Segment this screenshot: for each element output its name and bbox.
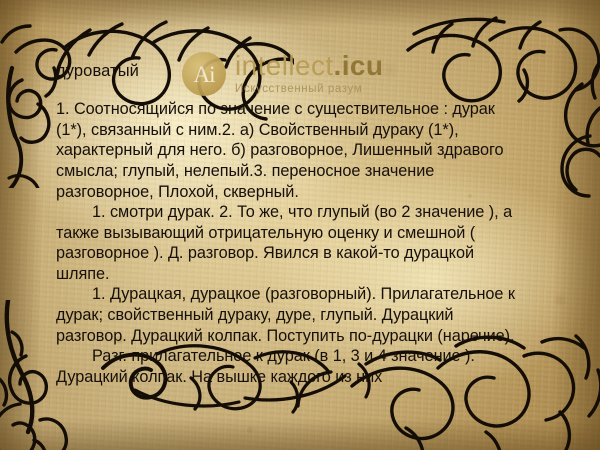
headword: дуроватый xyxy=(56,62,566,80)
definition-paragraph-3: 1. Дурацкая, дурацкое (разговорный). При… xyxy=(56,284,526,346)
definition-paragraph-1: 1. Соотносящийся по значение с существит… xyxy=(56,99,526,202)
slide-canvas: Ai intellect.icu Искусственный разум дур… xyxy=(0,0,600,450)
slide-content: дуроватый 1. Соотносящийся по значение с… xyxy=(56,62,566,387)
definition-paragraph-2: 1. смотри дурак. 2. То же, что глупый (в… xyxy=(56,202,524,284)
definition-paragraph-4: Разг. прилагательное к дурак (в 1, 3 и 4… xyxy=(56,346,550,387)
